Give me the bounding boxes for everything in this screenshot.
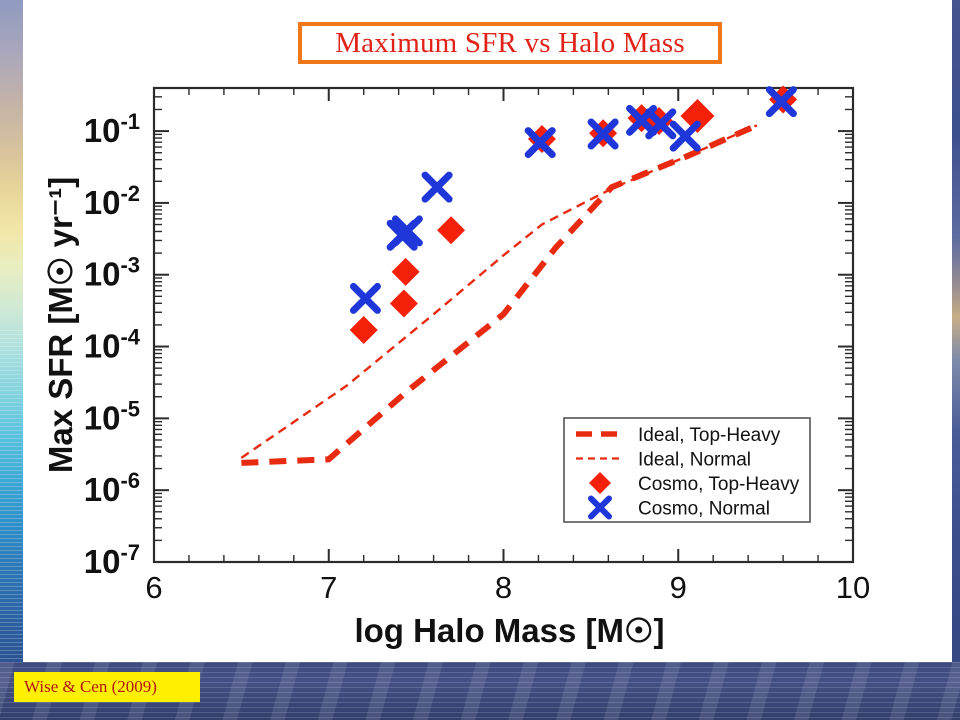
y-axis-title: Max SFR [M☉ yr⁻¹]	[42, 177, 79, 473]
slide-canvas: Maximum SFR vs Halo Mass 67891010-110-21…	[0, 0, 960, 720]
data-point-diamond	[437, 216, 465, 244]
x-tick-label: 6	[145, 570, 162, 605]
y-tick-label: 10-2	[84, 181, 140, 221]
y-tick-label: 10-4	[84, 325, 141, 365]
x-axis-title: log Halo Mass [M☉]	[354, 612, 664, 649]
data-point-diamond	[390, 289, 418, 317]
legend-label: Ideal, Top-Heavy	[638, 425, 781, 446]
legend-label: Cosmo, Normal	[638, 499, 770, 520]
y-tick-label: 10-3	[84, 253, 140, 293]
y-tick-label: 10-5	[84, 396, 140, 436]
legend-label: Cosmo, Top-Heavy	[638, 474, 800, 495]
data-point-cross	[353, 286, 377, 310]
data-point-diamond	[392, 258, 420, 286]
data-point-diamond	[350, 316, 378, 344]
legend-label: Ideal, Normal	[638, 450, 751, 471]
x-tick-label: 8	[495, 570, 512, 605]
chart-plot: 67891010-110-210-310-410-510-610-7log Ha…	[0, 0, 960, 720]
series-line-ideal-top-heavy	[241, 125, 757, 463]
credit-badge: Wise & Cen (2009)	[14, 672, 200, 702]
y-tick-label: 10-1	[84, 109, 140, 149]
y-tick-label: 10-7	[84, 540, 140, 580]
data-point-cross	[425, 175, 449, 199]
x-tick-label: 7	[320, 570, 337, 605]
series-line-ideal-normal	[241, 125, 757, 458]
credit-text: Wise & Cen (2009)	[24, 677, 157, 697]
x-tick-label: 10	[836, 570, 870, 605]
x-tick-label: 9	[670, 570, 687, 605]
data-point-cross	[673, 124, 697, 148]
y-tick-label: 10-6	[84, 468, 140, 508]
